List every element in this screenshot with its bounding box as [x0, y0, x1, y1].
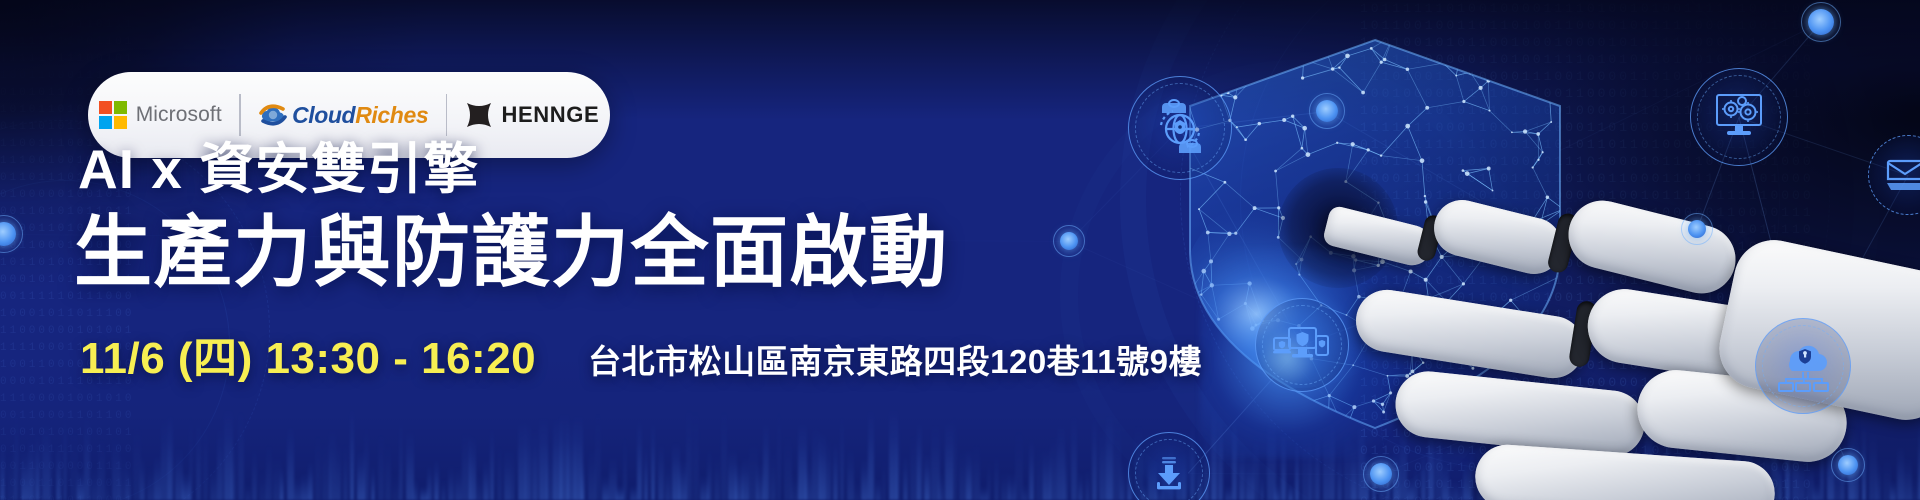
- logo-divider-2: [446, 94, 448, 136]
- cloudriches-word-cloud: Cloud: [292, 102, 355, 128]
- network-node-dot: [1838, 455, 1858, 475]
- settings-gears-monitor-icon: [1690, 68, 1788, 166]
- network-node-dot: [1688, 220, 1706, 238]
- cloudriches-logo-icon: [258, 100, 288, 130]
- microsoft-logo-icon: [99, 101, 127, 129]
- event-banner: 1011111101001000011110100101001111110001…: [0, 0, 1920, 500]
- hennge-logo-text: HENNGE: [502, 102, 600, 128]
- network-node-dot: [1370, 463, 1392, 485]
- network-node-dot: [1316, 100, 1338, 122]
- headline-primary: AI x 資安雙引擎: [78, 140, 479, 198]
- headline-secondary: 生產力與防護力全面啟動: [74, 210, 949, 296]
- event-datetime: 11/6 (四) 13:30 - 16:20: [80, 322, 536, 386]
- cloudriches-word-riches: Riches: [355, 102, 428, 128]
- network-node-dot: [0, 222, 16, 246]
- cloudriches-logo-text: CloudRiches: [292, 102, 428, 129]
- network-node-dot: [1060, 232, 1078, 250]
- event-address: 台北市松山區南京東路四段120巷11號9樓: [588, 335, 1202, 383]
- hennge-logo-icon: [465, 102, 493, 128]
- logo-hennge[interactable]: HENNGE: [461, 72, 604, 158]
- network-node-dot: [1808, 9, 1834, 35]
- multi-device-shield-icon: [1255, 298, 1349, 392]
- cloud-security-network-icon: [1755, 318, 1851, 414]
- globe-lock-security-icon: [1128, 76, 1232, 180]
- event-info-line: 11/6 (四) 13:30 - 16:20 台北市松山區南京東路四段120巷1…: [80, 322, 1202, 386]
- microsoft-logo-text: Microsoft: [136, 103, 222, 127]
- logo-divider-1: [239, 94, 241, 136]
